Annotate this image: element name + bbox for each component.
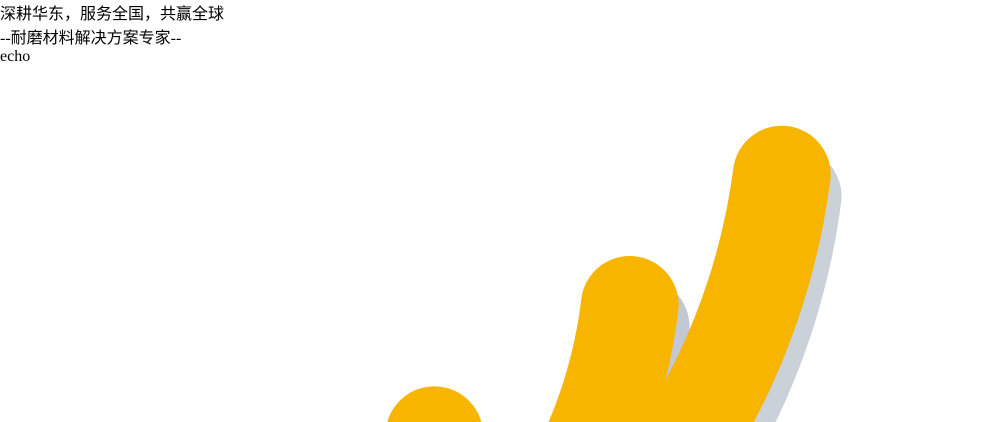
logo-echo-o: o <box>22 48 30 65</box>
logo-echo-text: echo <box>0 48 999 66</box>
echo-waves-icon <box>0 66 999 422</box>
subtitle-text: --耐磨材料解决方案专家-- <box>0 24 999 48</box>
logo-wordmark: echo <box>0 48 999 422</box>
logo-echo-prefix: ech <box>0 48 22 65</box>
company-logo: echo Machinery® <box>0 48 999 422</box>
headline-text: 深耕华东，服务全国，共赢全球 <box>0 0 999 24</box>
promo-banner: 深耕华东，服务全国，共赢全球 --耐磨材料解决方案专家-- echo Machi… <box>0 0 999 422</box>
